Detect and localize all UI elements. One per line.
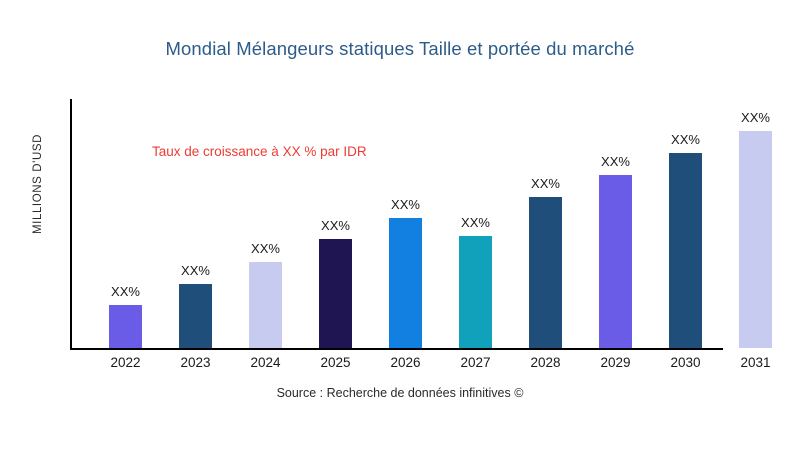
bar-value-label-2028: XX% [516,176,576,191]
x-tick-label-2023: 2023 [166,355,226,370]
bar-value-label-2029: XX% [586,154,646,169]
bar-value-label-2026: XX% [376,197,436,212]
chart-container: Mondial Mélangeurs statiques Taille et p… [0,0,800,450]
x-tick-label-2031: 2031 [726,355,786,370]
bar-value-label-2022: XX% [96,284,156,299]
bar-value-label-2025: XX% [306,218,366,233]
x-tick-label-2029: 2029 [586,355,646,370]
x-tick-label-2025: 2025 [306,355,366,370]
bar-2031[interactable] [739,131,772,348]
bar-value-label-2031: XX% [726,110,786,125]
x-tick-label-2022: 2022 [96,355,156,370]
bar-2030[interactable] [669,153,702,348]
source-caption: Source : Recherche de données infinitive… [0,386,800,400]
bar-2022[interactable] [109,305,142,348]
bar-2027[interactable] [459,236,492,349]
bar-value-label-2024: XX% [236,241,296,256]
bar-value-label-2030: XX% [656,132,716,147]
growth-rate-annotation: Taux de croissance à XX % par IDR [152,144,367,159]
x-tick-label-2024: 2024 [236,355,296,370]
bar-2028[interactable] [529,197,562,348]
x-tick-label-2026: 2026 [376,355,436,370]
bar-2026[interactable] [389,218,422,348]
bar-2023[interactable] [179,284,212,348]
x-tick-label-2027: 2027 [446,355,506,370]
bar-2025[interactable] [319,239,352,348]
plot-area: XX%2022XX%2023XX%2024XX%2025XX%2026XX%20… [0,0,800,450]
bar-2024[interactable] [249,262,282,348]
x-tick-label-2030: 2030 [656,355,716,370]
bar-value-label-2027: XX% [446,215,506,230]
x-tick-label-2028: 2028 [516,355,576,370]
bar-2029[interactable] [599,175,632,348]
bar-value-label-2023: XX% [166,263,226,278]
